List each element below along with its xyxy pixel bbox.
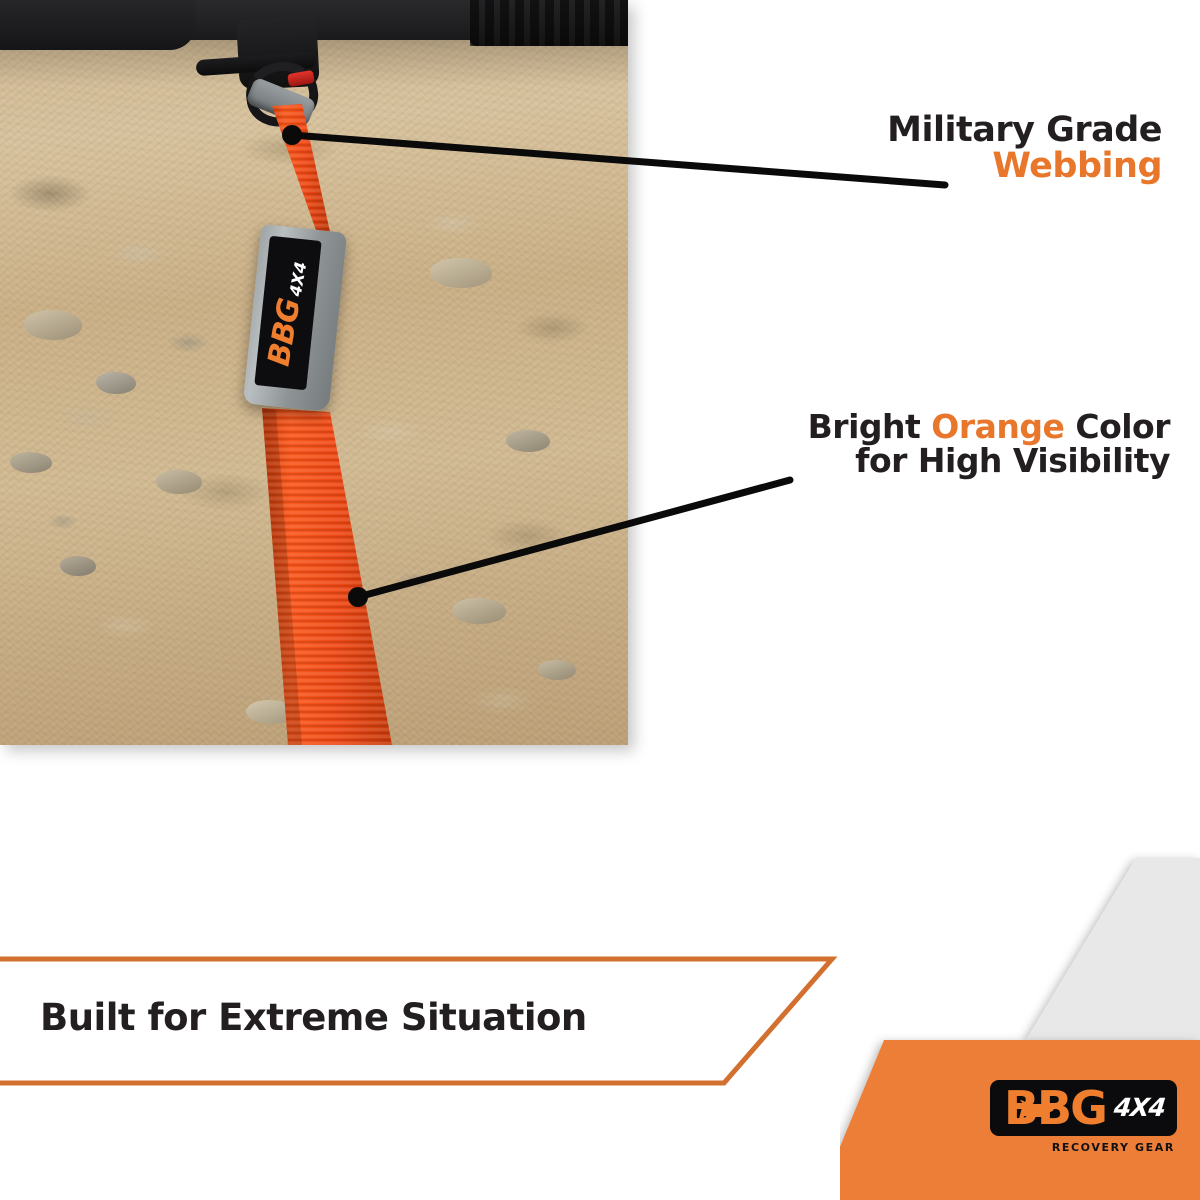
callout-visibility-line1: Bright Orange Color	[808, 410, 1170, 444]
callout-webbing-line1: Military Grade	[887, 112, 1162, 148]
visibility-suffix: Color	[1064, 407, 1170, 446]
callout-visibility-line2: for High Visibility	[808, 444, 1170, 478]
logo-tagline: RECOVERY GEAR	[1052, 1141, 1175, 1154]
brand-corner: BBG 4X4 RECOVERY GEAR	[840, 830, 1200, 1200]
visibility-accent-word: Orange	[931, 407, 1064, 446]
callout-text-visibility: Bright Orange Color for High Visibility	[808, 410, 1170, 479]
product-photo: BBG 4X4	[0, 0, 628, 745]
corner-gray-shape	[1026, 858, 1200, 1040]
logo-suffix: 4X4	[1113, 1095, 1167, 1120]
callout-webbing-line2: Webbing	[887, 148, 1162, 184]
tagline-banner: Built for Extreme Situation	[0, 956, 838, 1086]
brand-logo: BBG 4X4 RECOVERY GEAR	[990, 1080, 1177, 1154]
logo-plate: BBG 4X4	[990, 1080, 1177, 1136]
banner-text: Built for Extreme Situation	[40, 996, 587, 1039]
visibility-prefix: Bright	[808, 407, 932, 446]
strap-label-wordmark: BBG	[262, 296, 308, 368]
marketing-graphic-canvas: BBG 4X4 Military Grade Webbing Bright Or…	[0, 0, 1200, 1200]
callout-text-webbing: Military Grade Webbing	[887, 112, 1162, 185]
strap-label-suffix: 4X4	[286, 260, 311, 297]
bull-silhouette-icon	[1014, 1098, 1056, 1124]
